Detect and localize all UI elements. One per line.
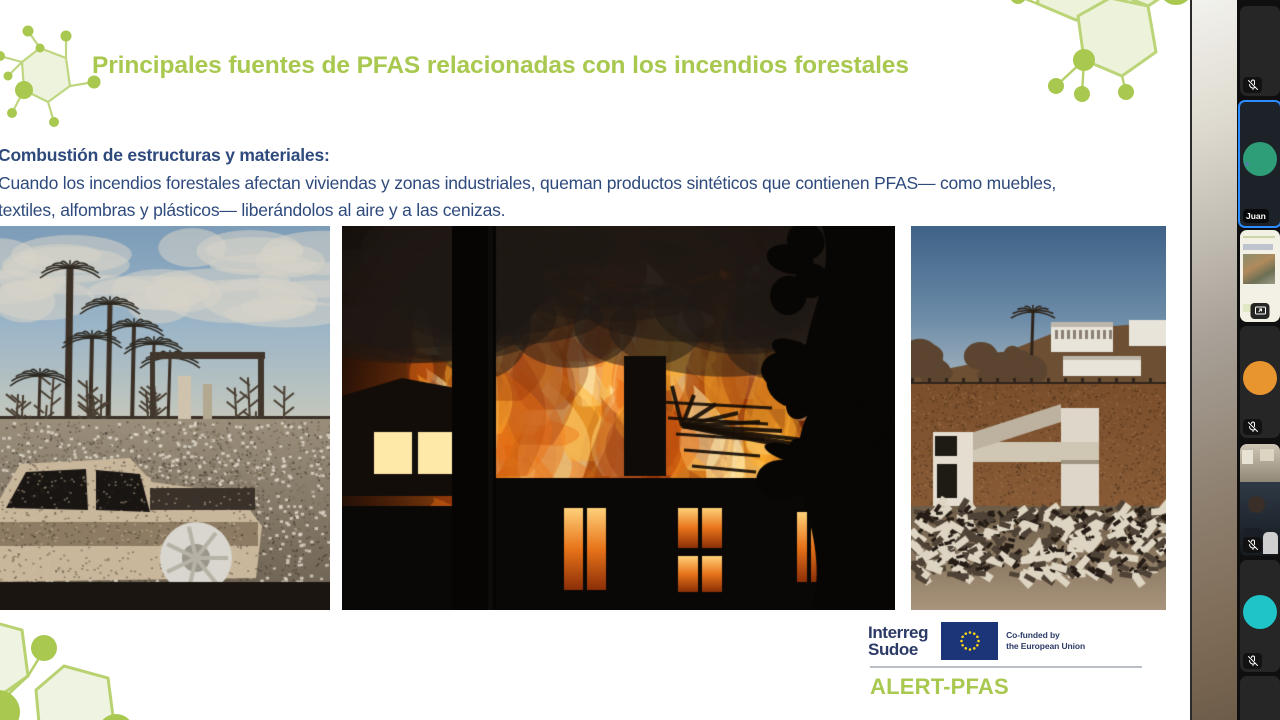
page-title: Principales fuentes de PFAS relacionadas… <box>92 52 1092 80</box>
screen-share-meeting-view: Principales fuentes de PFAS relacionadas… <box>0 0 1280 720</box>
body-paragraph-text: Cuando los incendios forestales afectan … <box>0 170 1108 225</box>
mic-muted-icon <box>1243 653 1262 669</box>
participant-name-label: Juan <box>1243 209 1269 223</box>
eu-cofunded-line1: Co-funded by <box>1006 630 1085 641</box>
photo-house-engulfed-in-flames <box>342 226 895 610</box>
avatar <box>1243 142 1277 176</box>
avatar <box>1243 361 1277 395</box>
participant-tile-1[interactable] <box>1240 6 1280 96</box>
participant-tile-4[interactable] <box>1240 326 1280 438</box>
participant-tile-3[interactable] <box>1240 230 1280 322</box>
participant-filmstrip[interactable]: Juan <box>1237 0 1280 720</box>
slide-footer: Interreg Sudoe <box>868 622 1168 700</box>
mic-muted-icon <box>1243 537 1262 553</box>
screen-share-icon <box>1251 303 1270 319</box>
desktop-background-strip <box>1190 0 1237 720</box>
avatar <box>1243 595 1277 629</box>
eu-flag-icon <box>941 622 998 660</box>
molecule-decoration-bottom-left <box>0 600 190 720</box>
eu-cofunding-logo: Co-funded by the European Union <box>941 622 1085 660</box>
participant-tile-7[interactable] <box>1240 676 1280 720</box>
body-lead-text: Combustión de estructuras y materiales: <box>0 142 1108 169</box>
participant-tile-6[interactable] <box>1240 560 1280 672</box>
project-name-label: ALERT-PFAS <box>870 674 1168 700</box>
interreg-sudoe-logo: Interreg Sudoe <box>868 624 928 659</box>
photo-burned-hillside-ruins <box>911 226 1166 610</box>
slide-body: Combustión de estructuras y materiales: … <box>0 142 1108 225</box>
eu-cofunded-line2: the European Union <box>1006 641 1085 652</box>
sudoe-label: Sudoe <box>868 641 928 659</box>
photo-burned-car-neighborhood <box>0 226 330 610</box>
status-dot <box>1245 162 1249 166</box>
participant-tile-2[interactable]: Juan <box>1238 100 1280 228</box>
mic-muted-icon <box>1243 77 1262 93</box>
mic-muted-icon <box>1243 419 1262 435</box>
participant-tile-5[interactable] <box>1240 444 1280 556</box>
shared-slide: Principales fuentes de PFAS relacionadas… <box>0 0 1190 720</box>
interreg-label: Interreg <box>868 624 928 642</box>
footer-divider <box>870 666 1142 668</box>
